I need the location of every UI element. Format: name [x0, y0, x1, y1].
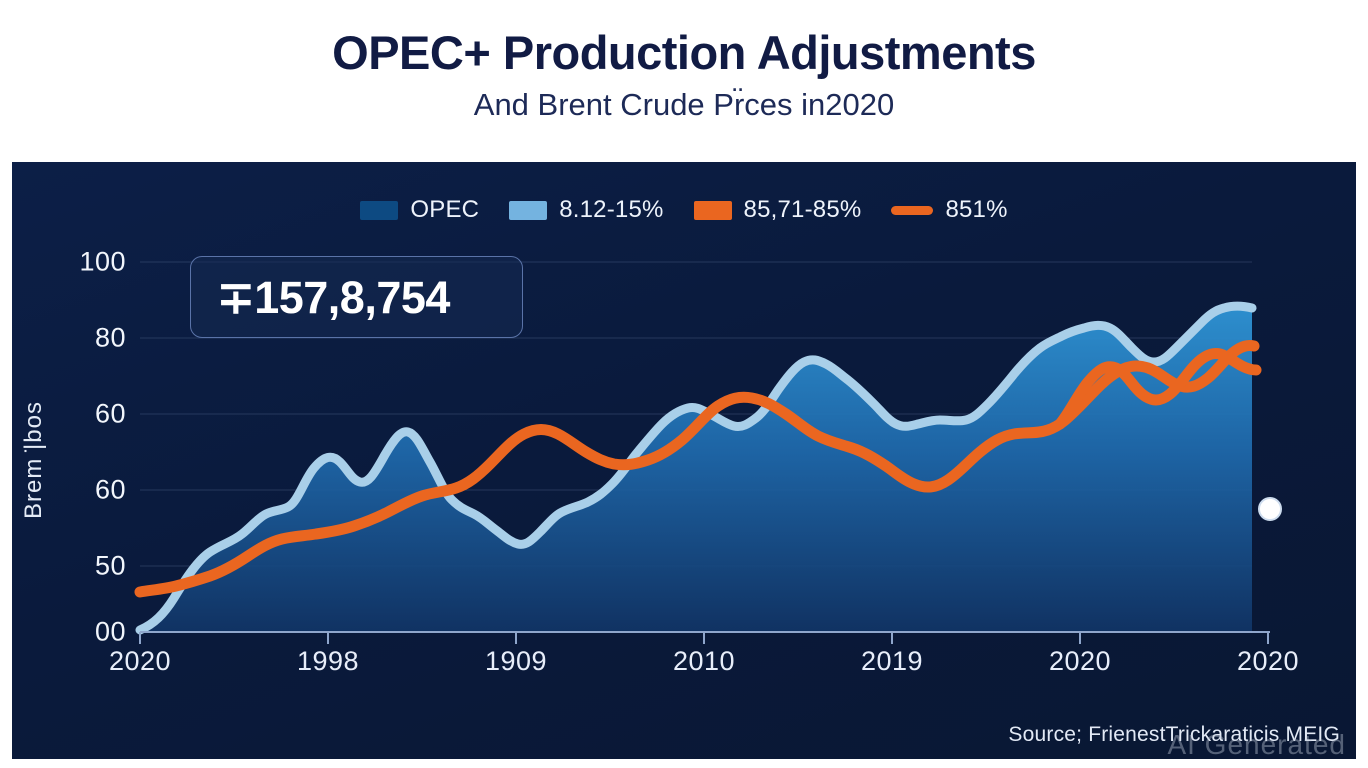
ai-generated-watermark: AI Generated [1167, 729, 1346, 759]
chart-page: OPEC+ Production Adjustments And Brent C… [0, 0, 1368, 768]
x-tick-1: 1998 [297, 646, 359, 677]
chart-panel: OPEC 8.12-15% 85,71-85% 851% [12, 162, 1356, 759]
callout-value: ∓157,8,754 [217, 271, 450, 324]
series-area-blue [140, 306, 1252, 632]
x-tick-2: 1909 [485, 646, 547, 677]
page-title: OPEC+ Production Adjustments [332, 28, 1036, 77]
callout-box[interactable]: ∓157,8,754 [190, 256, 523, 338]
x-tick-5: 2020 [1049, 646, 1111, 677]
x-tick-4: 2019 [861, 646, 923, 677]
chart-header: OPEC+ Production Adjustments And Brent C… [0, 0, 1368, 162]
y-axis-title: Brem ̇|bos [20, 401, 48, 519]
x-tick-3: 2010 [673, 646, 735, 677]
x-tick-6: 2020 [1237, 646, 1299, 677]
page-subtitle: And Brent Crude Pr̈ces in2020 [474, 87, 894, 123]
endpoint-marker [1259, 498, 1281, 520]
axis-ticks [140, 632, 1268, 644]
x-tick-0: 2020 [109, 646, 171, 677]
plot-area: 100 80 60 60 50 00 Brem ̇|bos 2020 1998 … [12, 162, 1356, 759]
